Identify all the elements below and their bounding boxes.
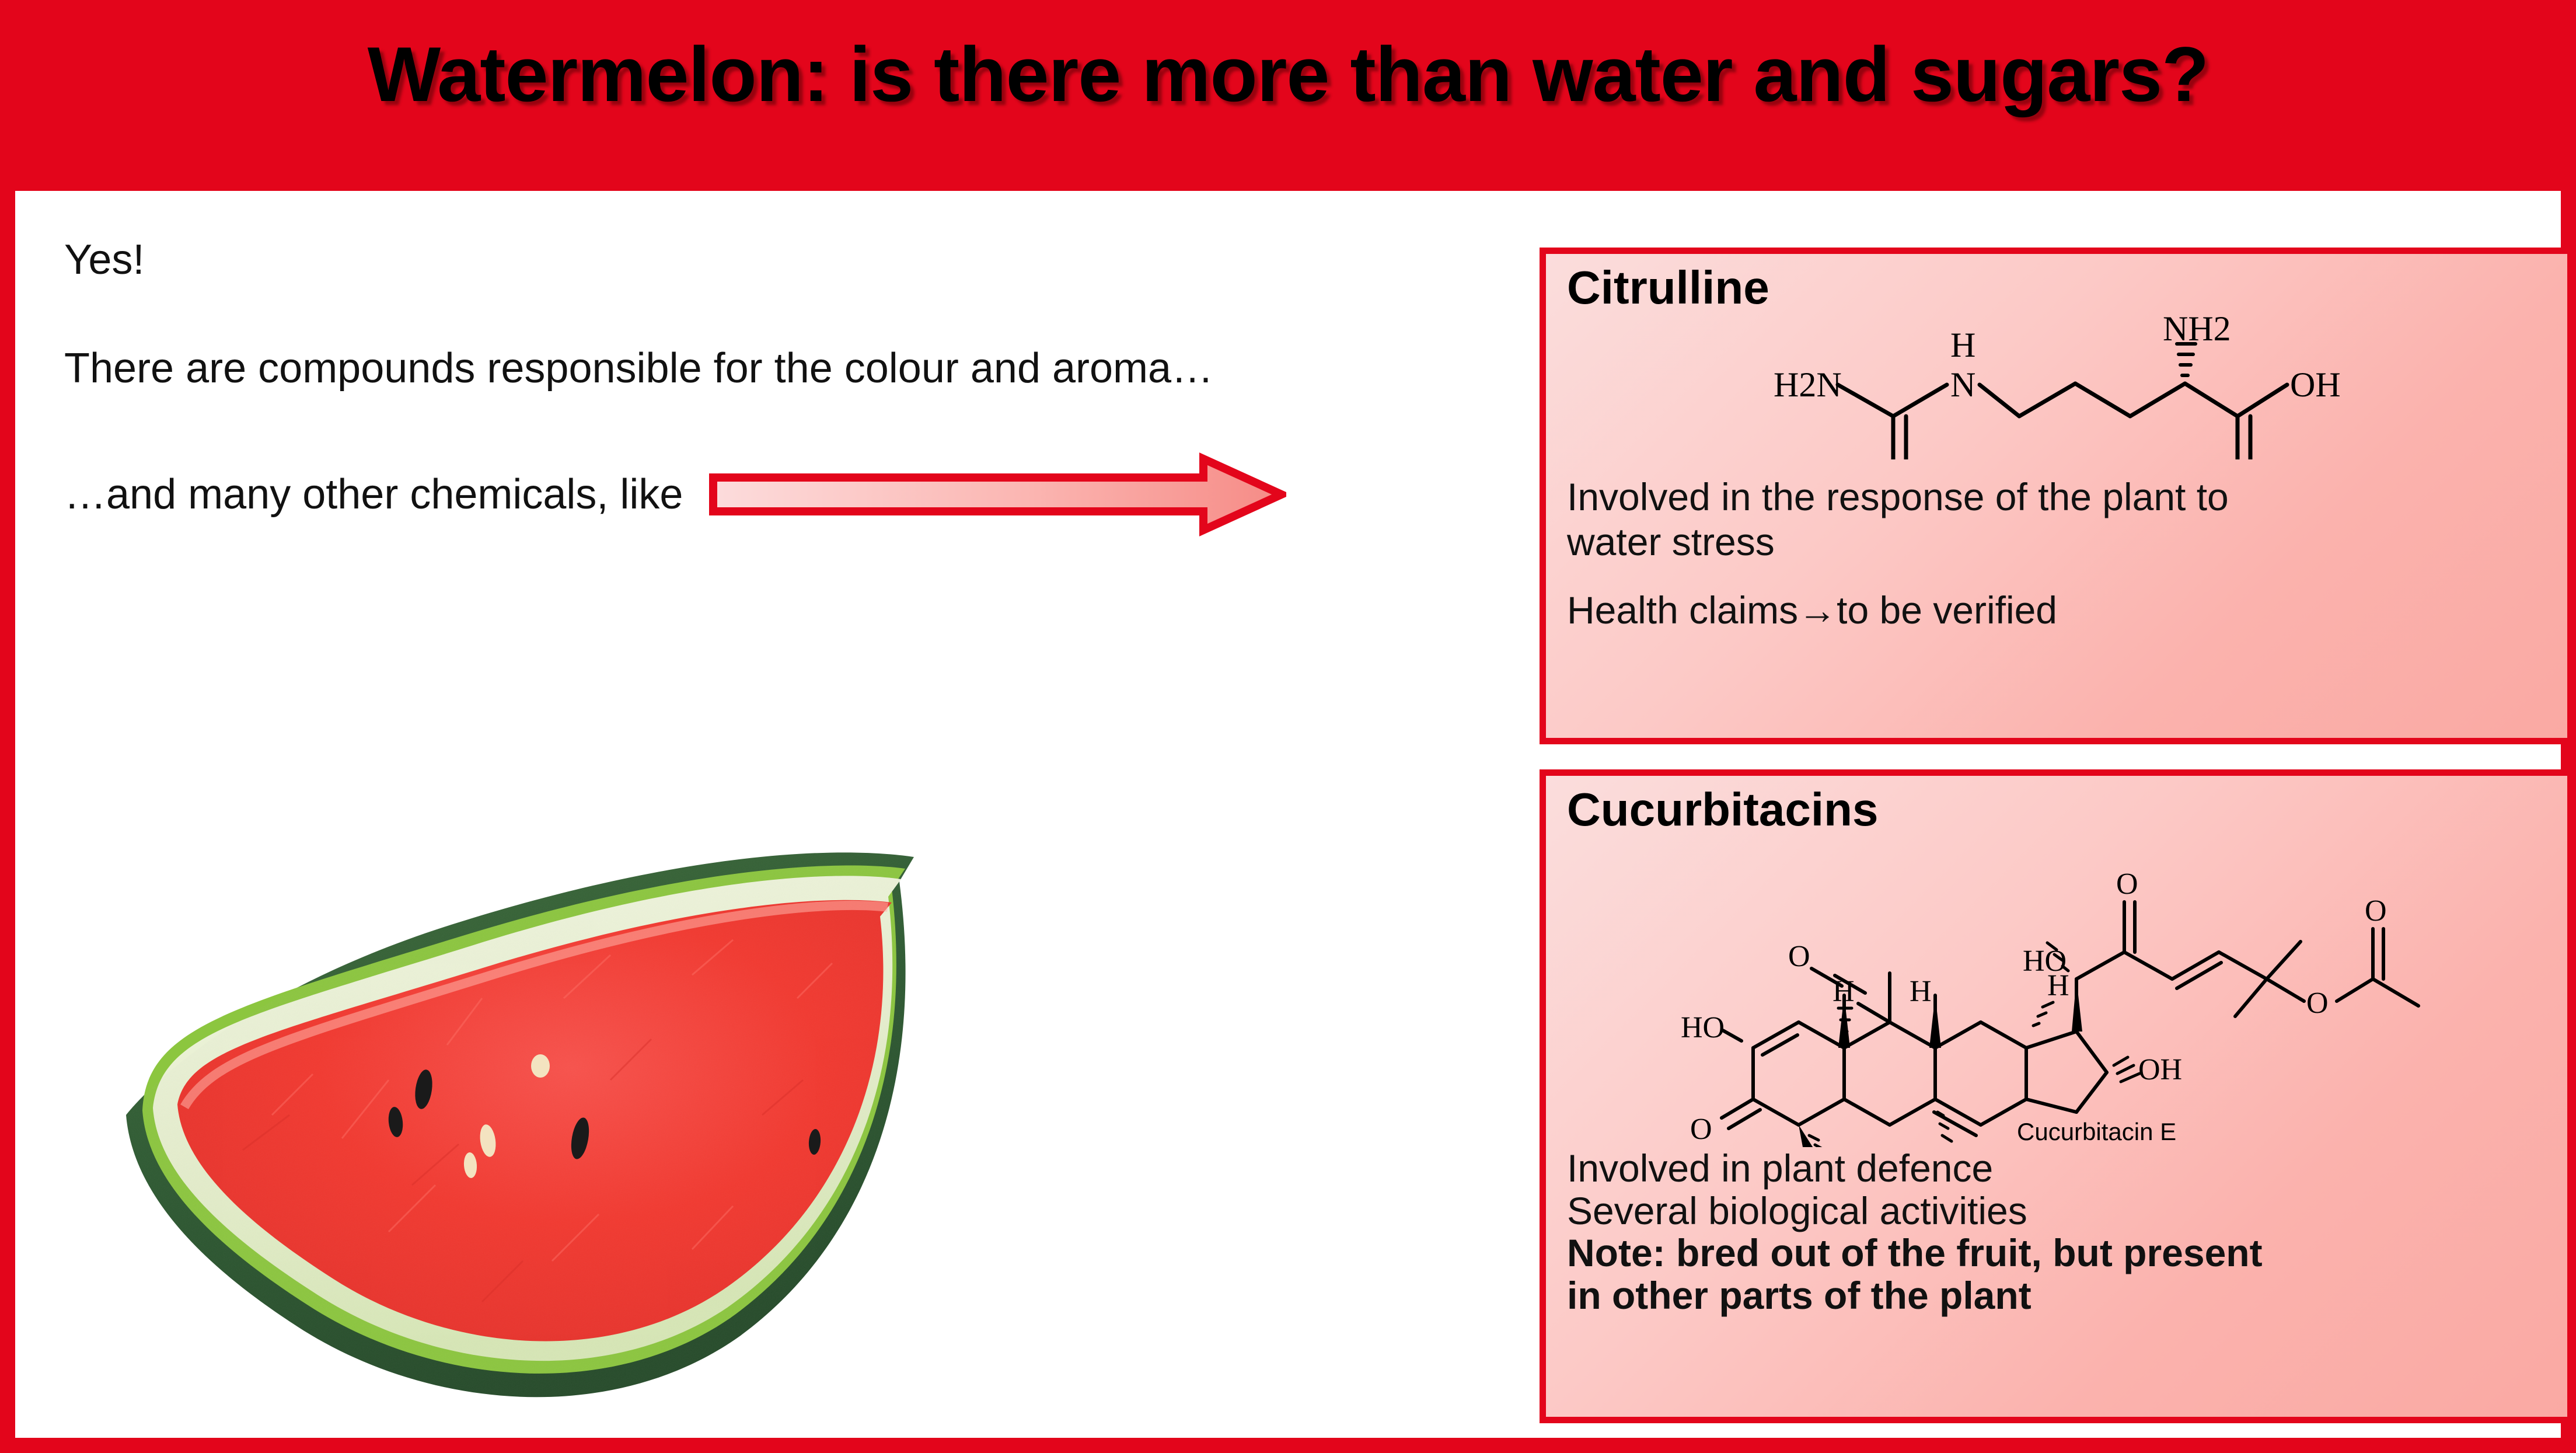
intro-line-2: There are compounds responsible for the … <box>64 342 1465 395</box>
card-cucurbitacins-note-line-2: in other parts of the plant <box>1567 1274 2567 1317</box>
atom-ho-left: HO <box>1681 1011 1725 1044</box>
intro-line-3: …and many other chemicals, like <box>64 468 683 521</box>
atom-o-ester-link: O <box>2306 987 2329 1020</box>
atom-h2n: H2N <box>1774 365 1842 404</box>
card-cucurbitacins-note-line-1: Note: bred out of the fruit, but present <box>1567 1232 2567 1274</box>
atom-o-11-keto: O <box>1788 940 1810 973</box>
atom-oh-d-ring: OH <box>2138 1053 2182 1086</box>
card-citrulline-title: Citrulline <box>1567 262 2567 313</box>
atom-n: N <box>1950 365 1975 404</box>
molecule-caption: Cucurbitacin E <box>2017 1118 2176 1145</box>
watermelon-slice-photo <box>39 671 1439 1430</box>
atom-nh-h: H <box>1950 326 1975 364</box>
atom-h-3: H <box>1910 975 1932 1008</box>
title-banner: Watermelon: is there more than water and… <box>0 0 2576 191</box>
left-text-column: Yes! There are compounds responsible for… <box>64 234 1465 538</box>
slide-root: Watermelon: is there more than water and… <box>0 0 2576 1453</box>
intro-line-3-row: …and many other chemicals, like <box>64 451 1465 538</box>
card-cucurbitacins[interactable]: Cucurbitacins <box>1540 769 2574 1423</box>
card-citrulline-body-line-1: Involved in the response of the plant to <box>1567 475 2567 520</box>
card-cucurbitacins-body-line-1: Involved in plant defence <box>1567 1147 2567 1190</box>
card-cucurbitacins-body-line-2: Several biological activities <box>1567 1190 2567 1232</box>
atom-oh: OH <box>2290 365 2341 404</box>
atom-o-20-keto: O <box>2116 867 2138 901</box>
atom-alpha-nh2: NH2 <box>2163 313 2231 348</box>
card-citrulline[interactable]: Citrulline <box>1540 248 2574 744</box>
card-citrulline-body-line-2: water stress <box>1567 520 2567 565</box>
cucurbitacin-e-structure-icon: HO O O HO O O O OH H H H Cucurbitacin E <box>1660 820 2453 1147</box>
page-title: Watermelon: is there more than water and… <box>0 30 2576 119</box>
right-block-arrow-icon <box>708 451 1286 538</box>
atom-h-2: H <box>2047 969 2069 1002</box>
card-citrulline-health-claim: Health claims→to be verified <box>1567 588 2567 633</box>
atom-h-1: H <box>1832 975 1855 1008</box>
atom-o-ester-carbonyl: O <box>2365 894 2387 928</box>
atom-o-ring-ketone: O <box>1690 1113 1712 1146</box>
citrulline-structure-icon: H2N N H NH2 OH O O <box>1718 313 2395 459</box>
intro-line-1: Yes! <box>64 234 1465 286</box>
